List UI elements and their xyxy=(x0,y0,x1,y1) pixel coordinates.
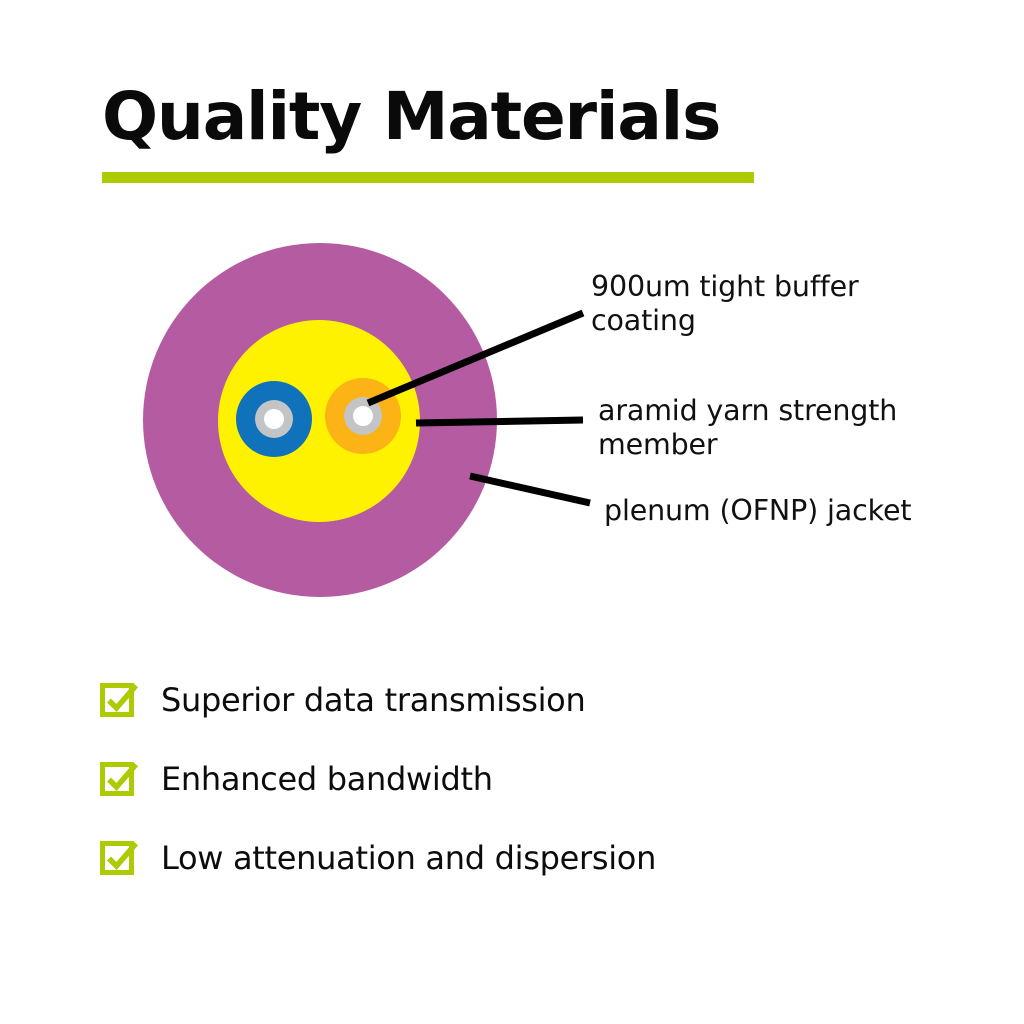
feature-label: Low attenuation and dispersion xyxy=(161,839,656,877)
fiber-orange-core-circle xyxy=(353,406,373,426)
callout-label-aramid-yarn: aramid yarn strength member xyxy=(598,394,958,461)
feature-label: Superior data transmission xyxy=(161,681,585,719)
callout-label-buffer-coating: 900um tight buffer coating xyxy=(591,270,951,337)
title-block: Quality Materials xyxy=(102,84,882,150)
leader-line-jacket xyxy=(470,476,590,503)
feature-label: Enhanced bandwidth xyxy=(161,760,493,798)
checkbox-check-icon xyxy=(99,680,139,720)
leader-line-aramid xyxy=(416,420,583,423)
feature-list-item: Enhanced bandwidth xyxy=(99,739,919,818)
slide-canvas: Quality Materials 900um tight buffer coa… xyxy=(0,0,1024,1024)
callout-label-plenum-jacket: plenum (OFNP) jacket xyxy=(604,494,964,528)
title-underline-rule xyxy=(102,172,754,183)
feature-list-item: Superior data transmission xyxy=(99,660,919,739)
checkbox-check-icon xyxy=(99,759,139,799)
cable-cross-section-diagram xyxy=(120,230,660,620)
fiber-blue-core-circle xyxy=(264,409,284,429)
page-title: Quality Materials xyxy=(102,84,882,150)
checkbox-check-icon xyxy=(99,838,139,878)
feature-list-item: Low attenuation and dispersion xyxy=(99,818,919,897)
feature-list: Superior data transmission Enhanced band… xyxy=(99,660,919,897)
